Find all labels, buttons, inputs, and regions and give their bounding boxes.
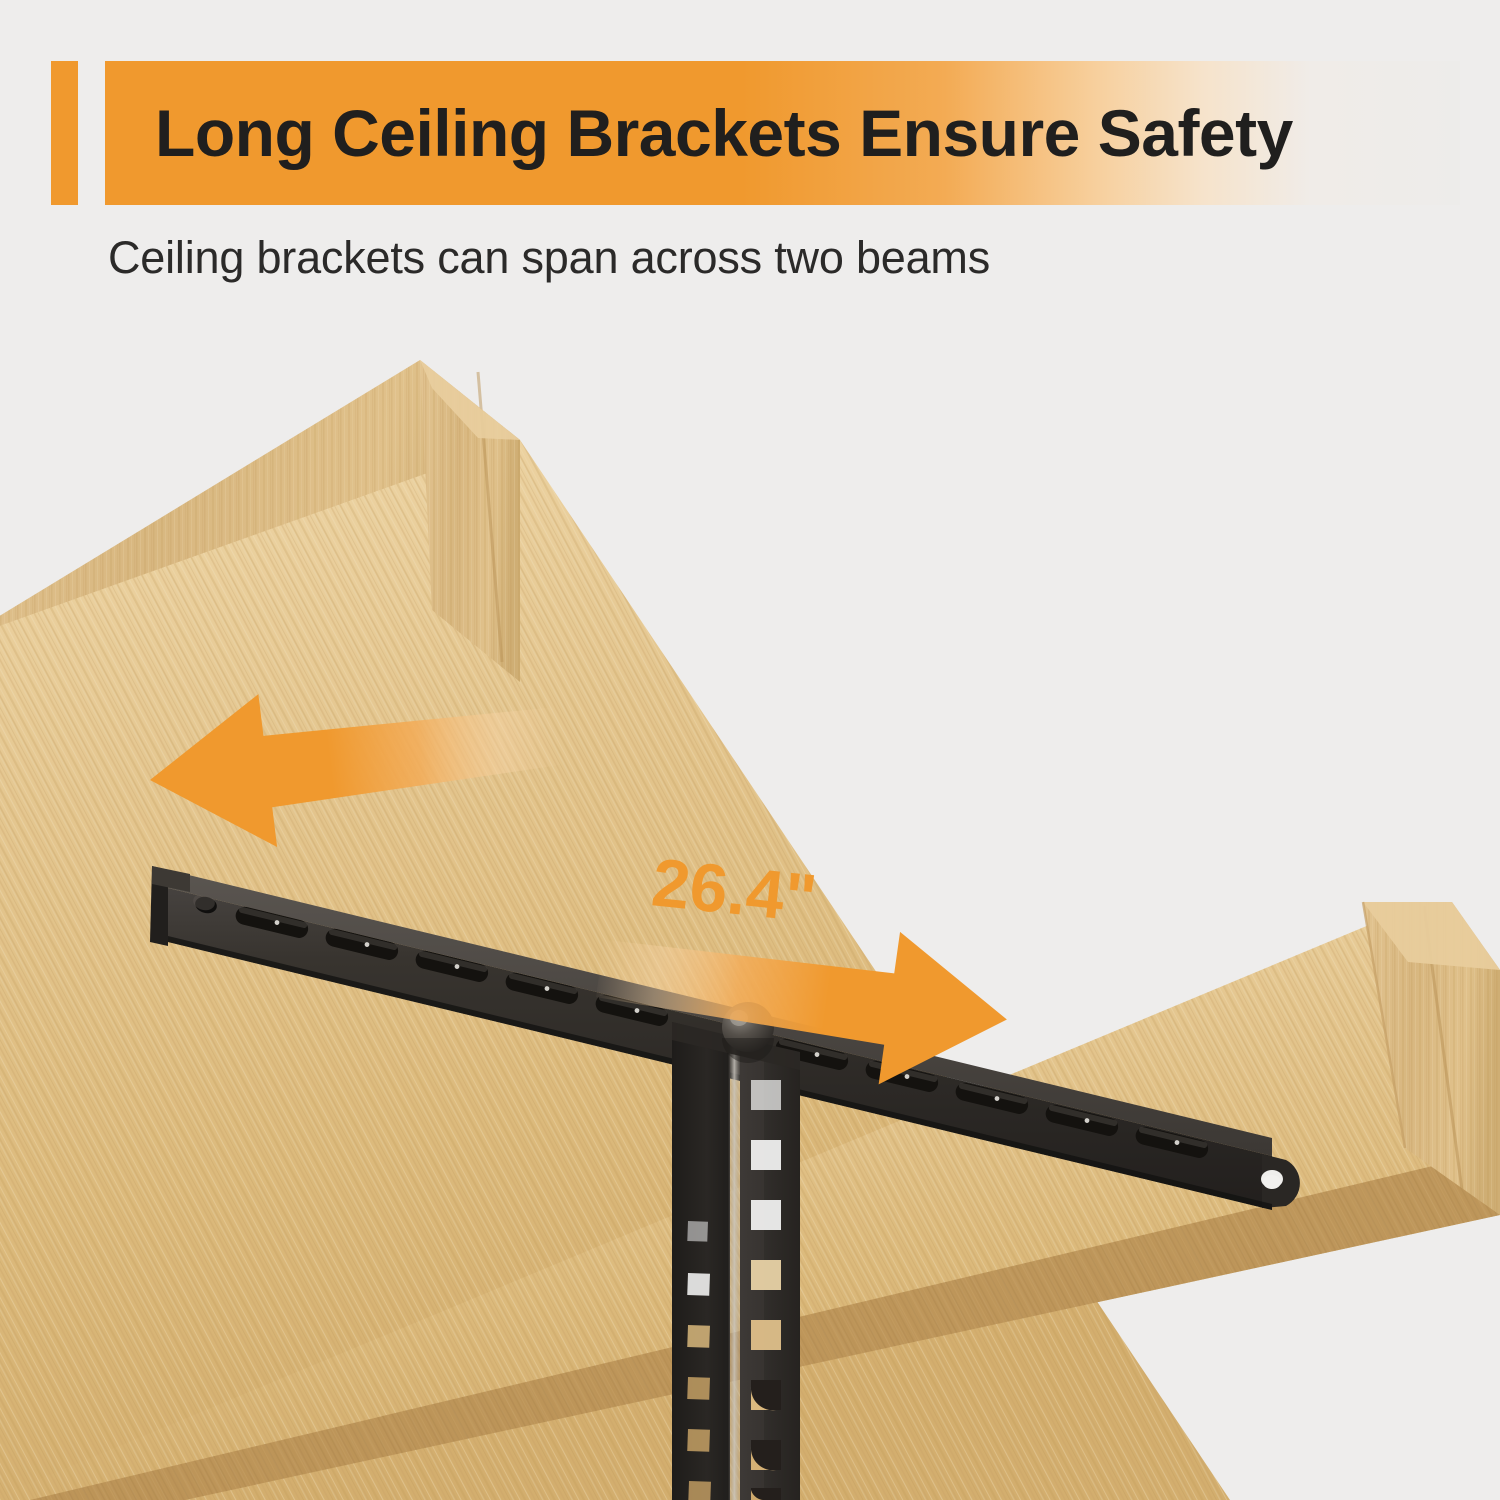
page-title: Long Ceiling Brackets Ensure Safety xyxy=(155,61,1293,205)
header-block: Long Ceiling Brackets Ensure Safety Ceil… xyxy=(0,0,1500,310)
page-subtitle: Ceiling brackets can span across two bea… xyxy=(108,232,990,284)
product-illustration: 26.4" xyxy=(0,310,1500,1500)
product-infographic-page: Long Ceiling Brackets Ensure Safety Ceil… xyxy=(0,0,1500,1500)
accent-tab xyxy=(51,61,78,205)
vertical-drop-pole xyxy=(672,1022,800,1500)
illustration-svg: 26.4" xyxy=(0,310,1500,1500)
